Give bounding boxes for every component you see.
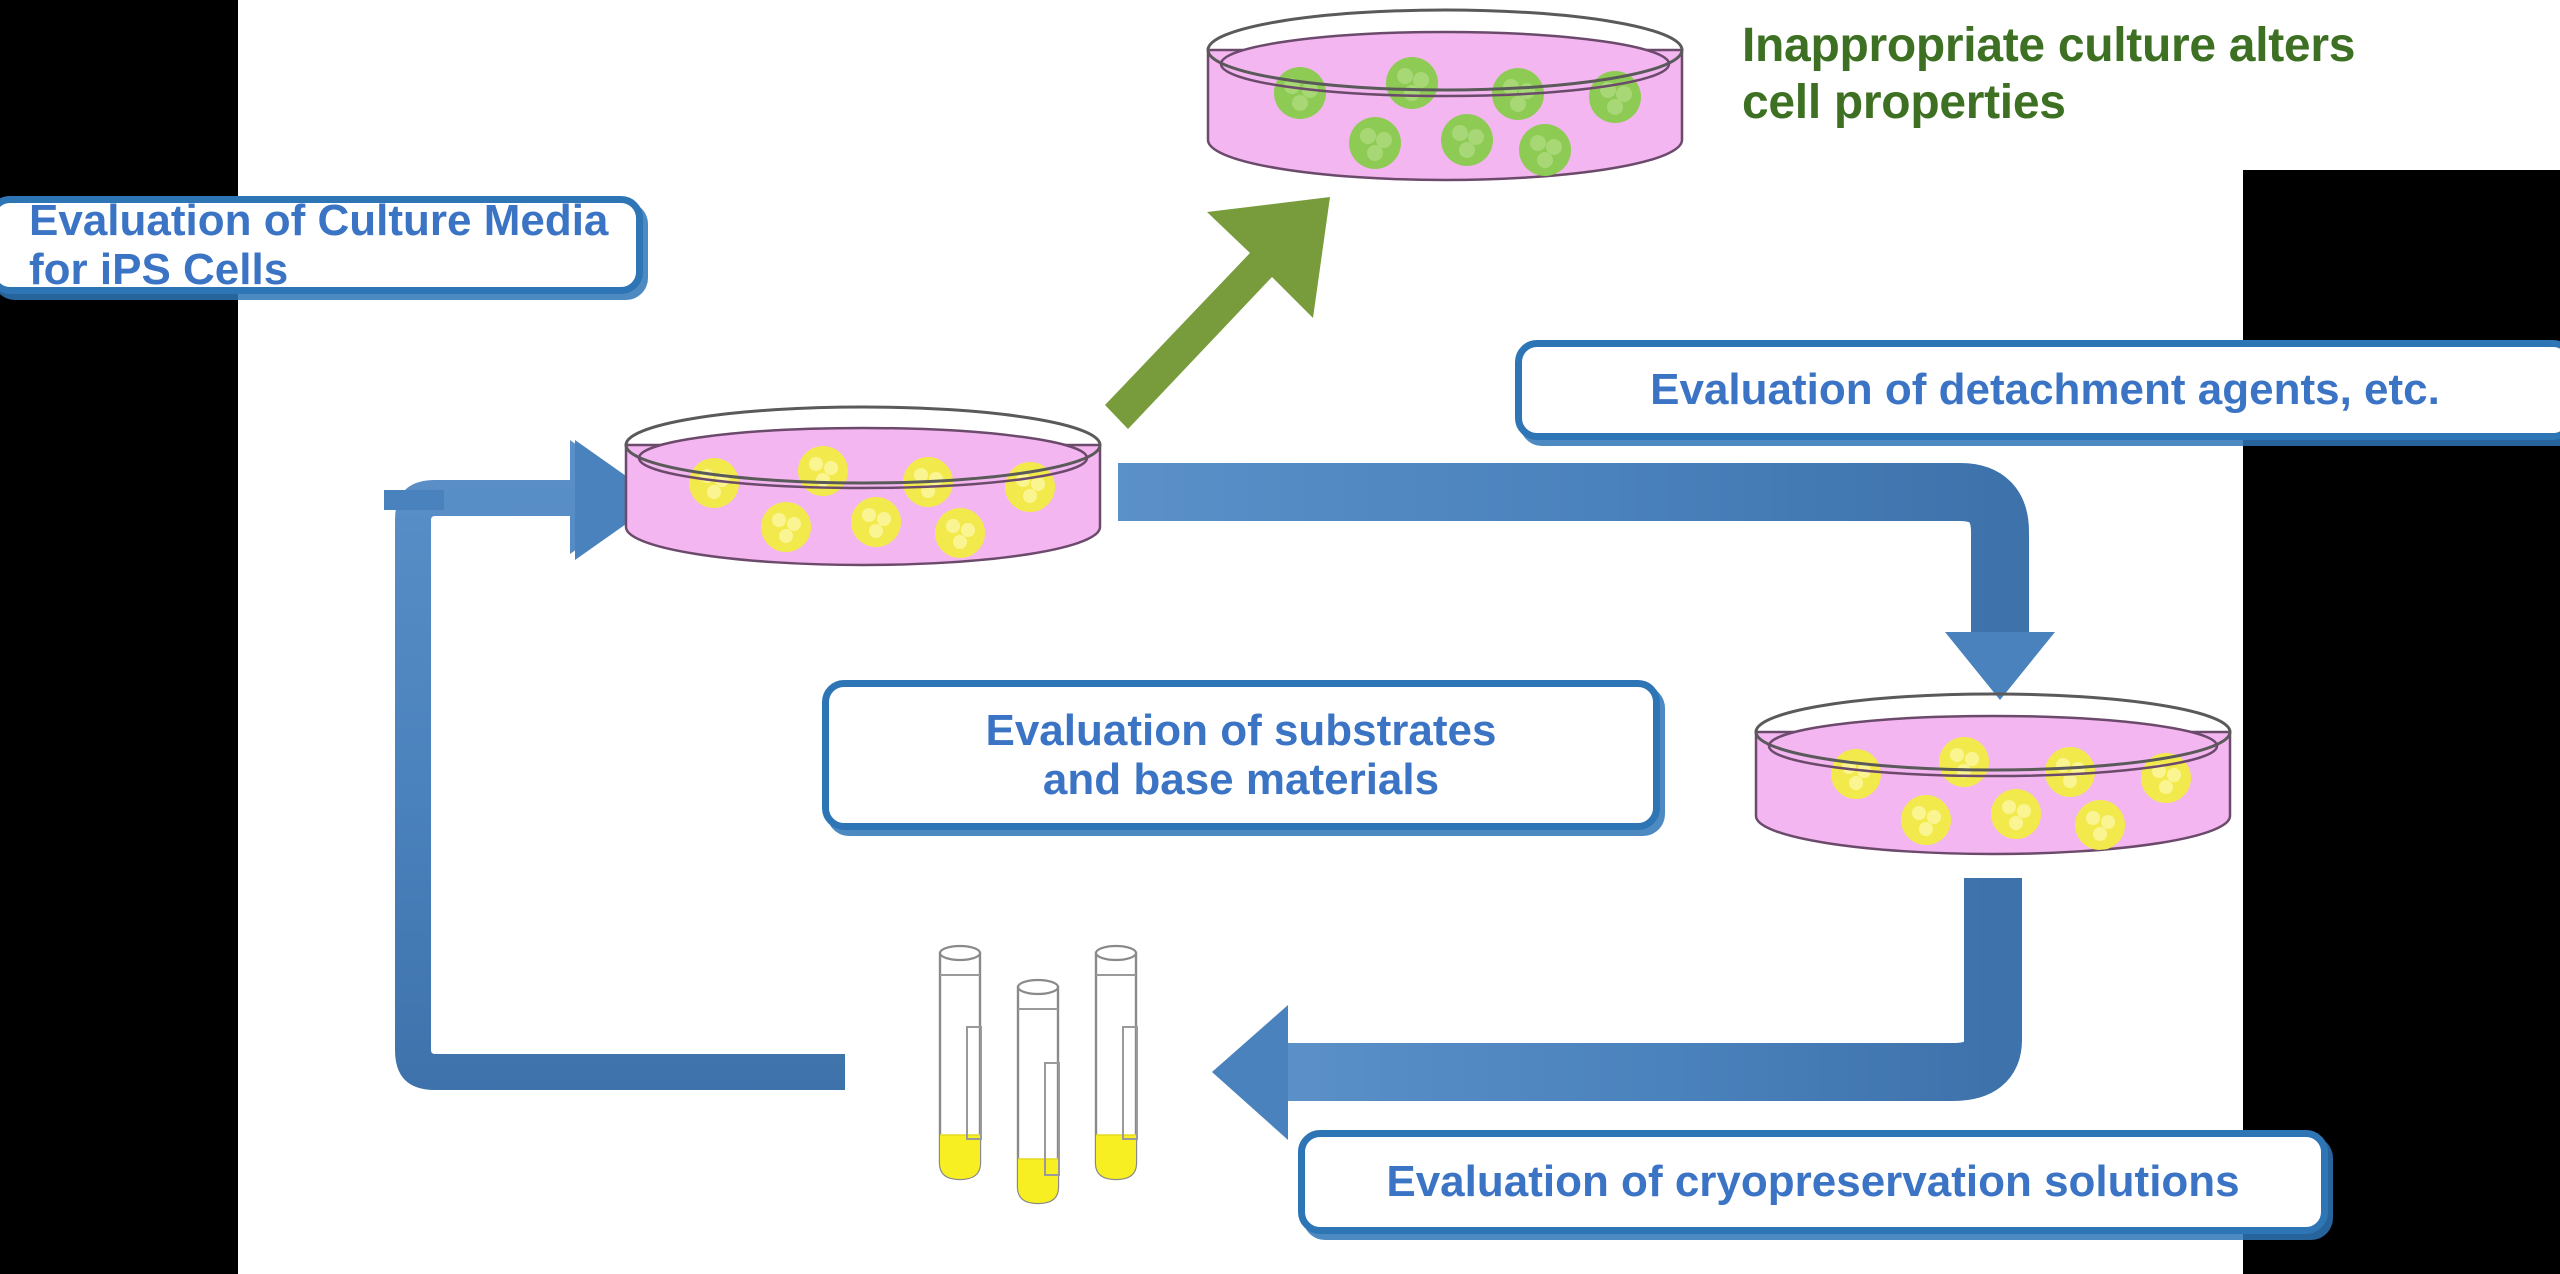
cryopreservation-vials [930,935,1160,1205]
green-annotation-line1: Inappropriate culture alters [1742,18,2532,75]
green-annotation-line2: cell properties [1742,75,2532,132]
label-text-culture-media: Evaluation of Culture Media for iPS Cell… [0,196,636,295]
label-text-substrates: Evaluation of substrates and base materi… [829,706,1653,805]
petri-dish-yellow-colonies-left [618,405,1108,580]
label-box-culture-media[interactable]: Evaluation of Culture Media for iPS Cell… [0,196,643,294]
label-text-cryopreservation: Evaluation of cryopreservation solutions [1305,1157,2321,1206]
green-annotation-text: Inappropriate culture alters cell proper… [1742,18,2532,131]
cryo-vial-middle [1018,980,1059,1203]
label-box-substrates[interactable]: Evaluation of substrates and base materi… [822,680,1660,830]
label-text-substrates-line1: Evaluation of substrates [985,706,1496,755]
cryo-vial-right [1096,946,1137,1179]
figure-canvas: Inappropriate culture alters cell proper… [0,0,2560,1274]
label-text-detachment-agents: Evaluation of detachment agents, etc. [1522,365,2560,414]
label-box-cryopreservation[interactable]: Evaluation of cryopreservation solutions [1298,1130,2328,1234]
cryo-vial-left [940,946,981,1179]
petri-dish-yellow-colonies-right [1748,692,2238,870]
label-text-substrates-line2: and base materials [1043,755,1439,804]
petri-dish-green-colonies [1200,8,1690,198]
label-box-detachment-agents[interactable]: Evaluation of detachment agents, etc. [1515,340,2560,440]
